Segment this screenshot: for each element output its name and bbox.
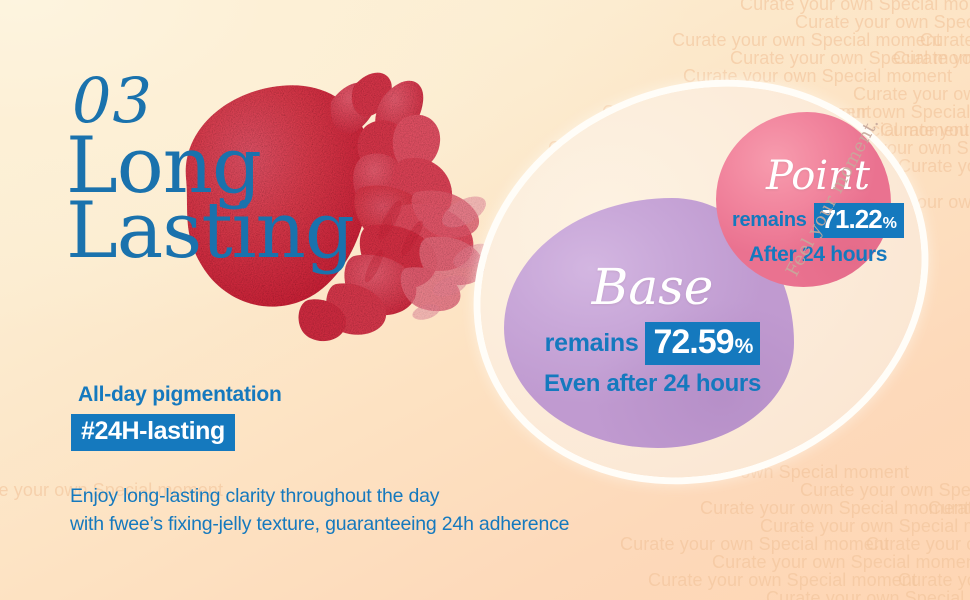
subtitle-text: All-day pigmentation xyxy=(78,383,282,407)
base-percent-badge: 72.59% xyxy=(645,322,760,365)
base-after-text: Even after 24 hours xyxy=(520,370,785,398)
point-remains-label: remains xyxy=(732,209,807,232)
watermark-line: Curate your own Special moment xyxy=(672,30,941,51)
watermark-line: Curate your own Special moment xyxy=(760,516,970,537)
watermark-line: Curate your own Special moment xyxy=(620,534,889,555)
watermark-line: Curate your own Special moment xyxy=(712,552,970,573)
headline-line-2: Lasting xyxy=(66,198,354,265)
base-percent-value: 72.59 xyxy=(653,323,733,362)
watermark-line: Curate your own Special moment xyxy=(766,588,970,600)
watermark-line: Curate your own Special moment xyxy=(893,48,970,69)
body-copy-line-1: Enjoy long-lasting clarity throughout th… xyxy=(70,483,569,511)
body-copy-line-2: with fwee’s fixing-jelly texture, guaran… xyxy=(70,511,569,539)
watermark-line: Curate your own Special moment xyxy=(648,570,917,591)
base-percent-unit: % xyxy=(735,335,754,359)
watermark-line: Curate your own Special moment xyxy=(928,498,970,519)
watermark-line: Curate your own Special moment Cur xyxy=(920,30,970,51)
base-result-label: Base remains 72.59% Even after 24 hours xyxy=(520,262,785,398)
watermark-line: Curate your own Special moment xyxy=(700,498,969,519)
watermark-line: Curate your own Special moment xyxy=(730,48,970,69)
base-stat-row: remains 72.59% xyxy=(520,322,785,365)
watermark-line: Curate your own Special moment xyxy=(898,570,970,591)
body-copy: Enjoy long-lasting clarity throughout th… xyxy=(70,483,569,538)
watermark-line: Curate your own Special moment xyxy=(866,534,970,555)
watermark-line: Curate your own Special moment xyxy=(740,0,970,15)
hashtag-badge: #24H-lasting xyxy=(71,414,235,451)
point-title: Point xyxy=(713,156,923,196)
base-remains-label: remains xyxy=(545,329,639,358)
base-title: Base xyxy=(520,262,785,312)
point-percent-unit: % xyxy=(883,214,897,233)
watermark-line: Curate your own Special moment xyxy=(683,66,952,87)
watermark-line: Curate your own Special moment xyxy=(795,12,970,33)
headline-block: 03 Long Lasting xyxy=(66,72,354,265)
promo-banner: Curate your own Special momentCurate you… xyxy=(0,0,970,600)
